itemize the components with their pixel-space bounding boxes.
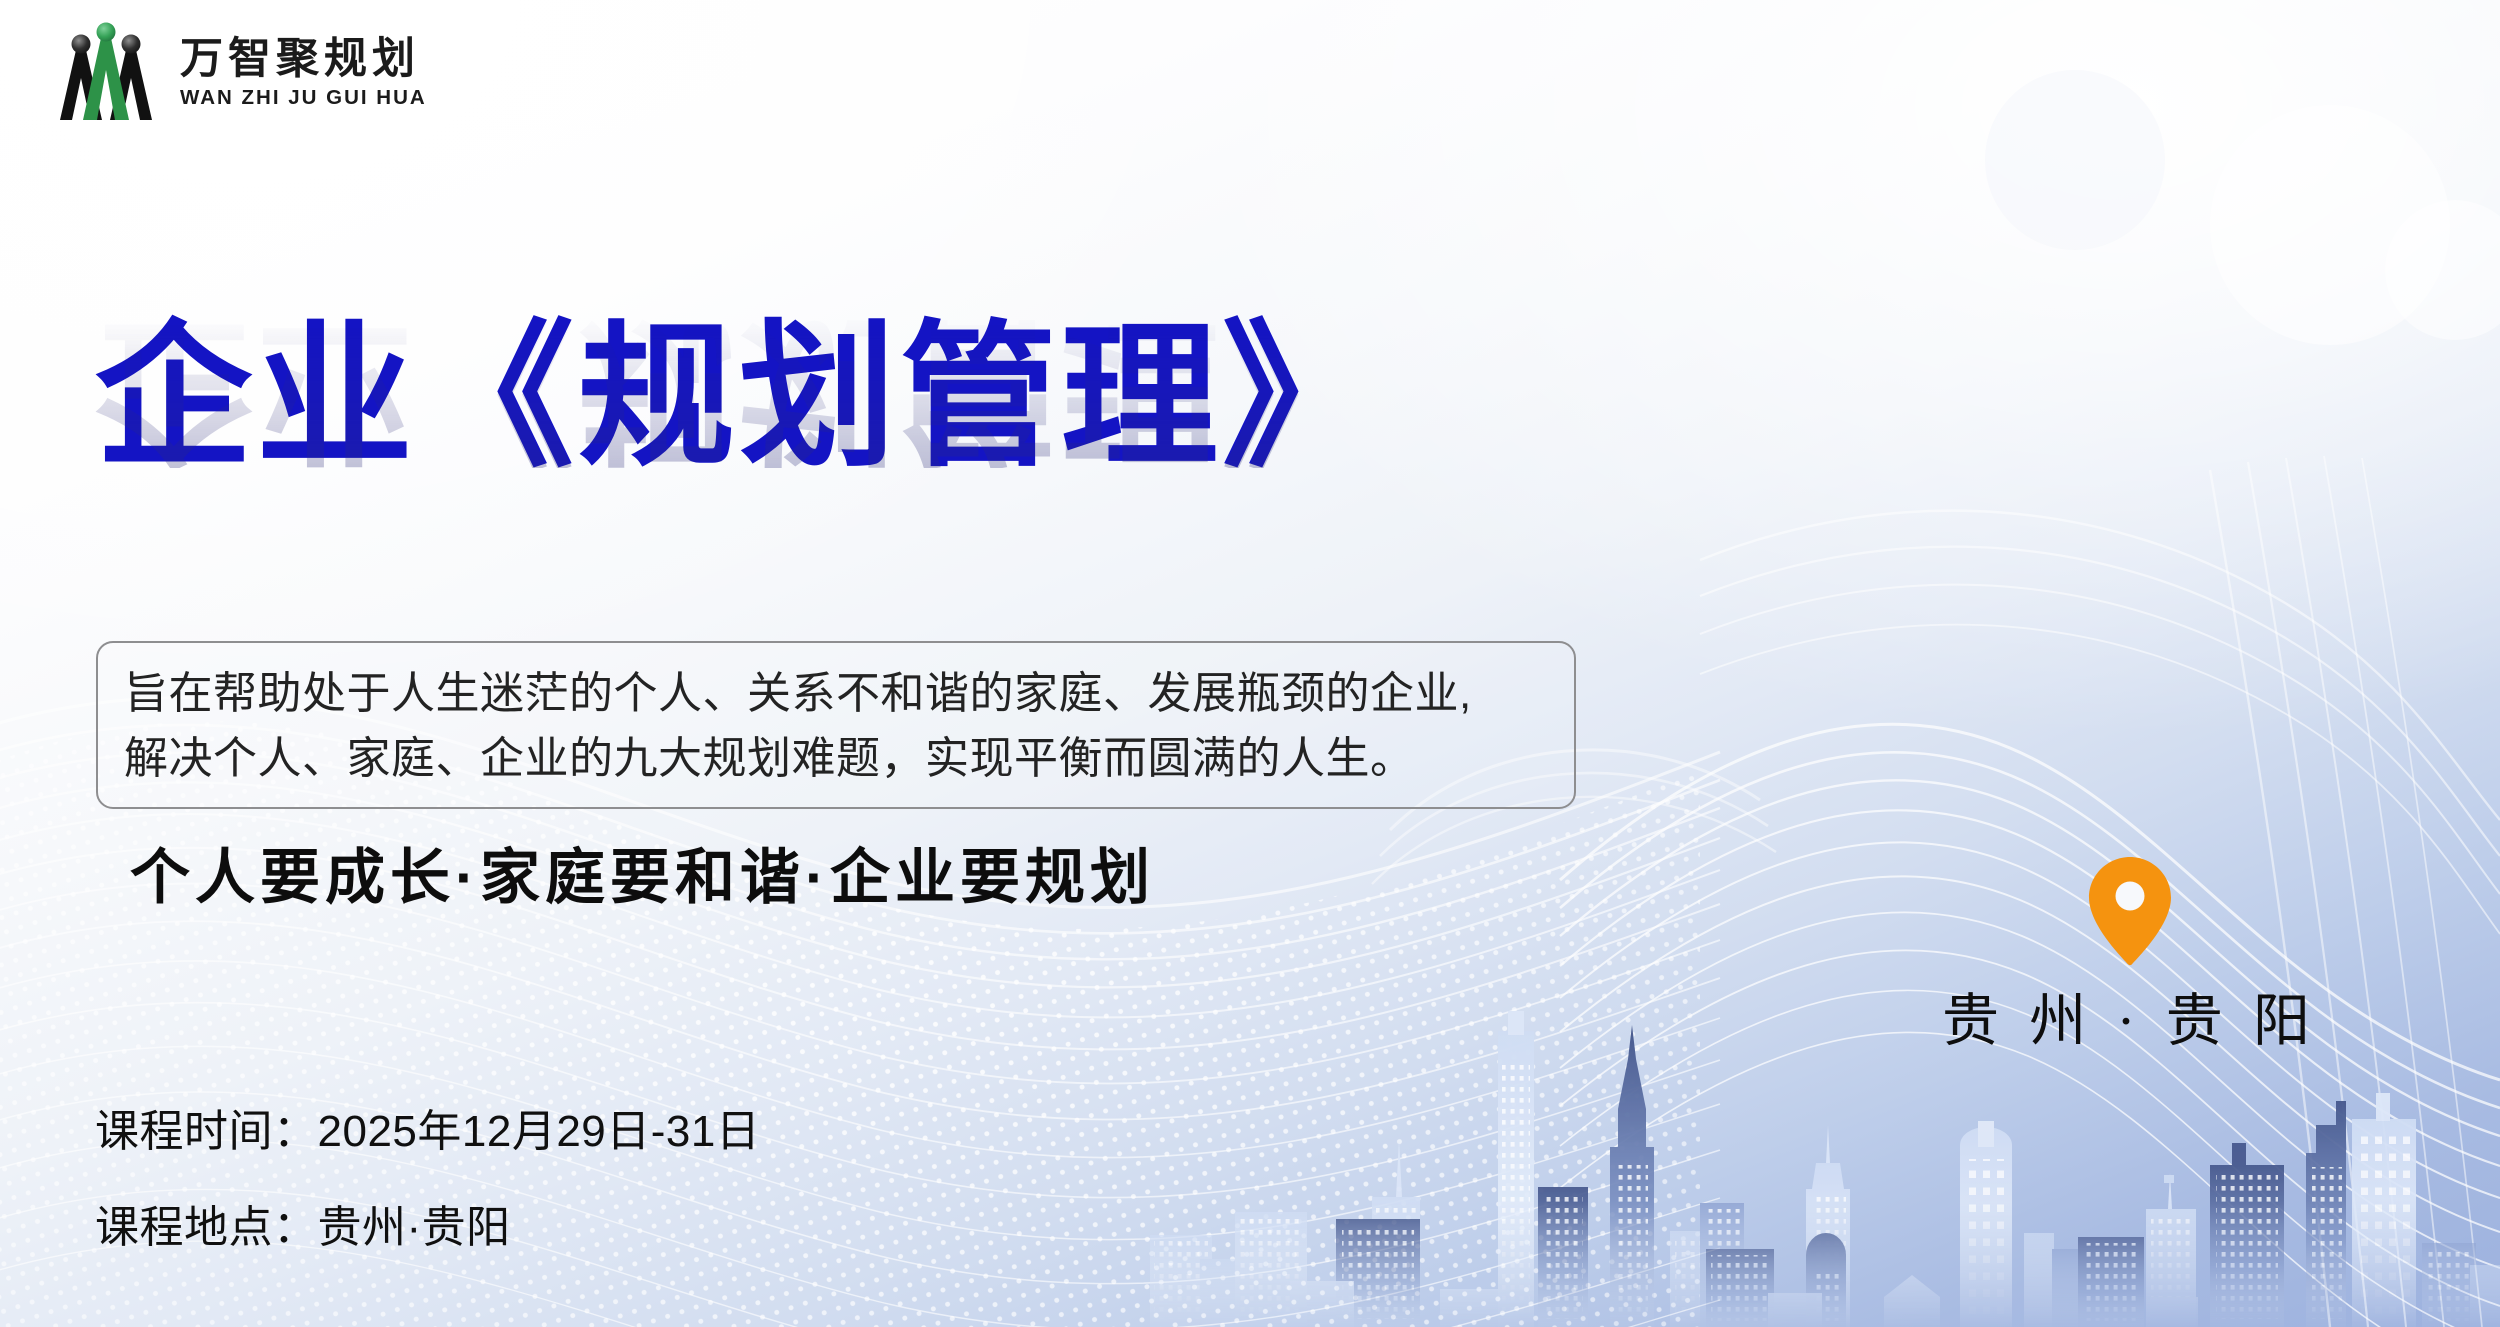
course-info: 课程时间：2025年12月29日-31日 课程地点：贵州·贵阳 [95, 1110, 760, 1250]
brand-logo[interactable]: 万智聚规划 WAN ZHI JU GUI HUA [50, 20, 427, 125]
location-badge: 贵 州 · 贵 阳 [1940, 855, 2320, 1050]
slogan-text: 个人要成长·家庭要和谐·企业要规划 [130, 845, 1155, 911]
hero-title-block: 企业《规划管理》 企业《规划管理》 [95, 318, 1383, 628]
three-people-logo-icon [50, 20, 162, 125]
poster-canvas: 万智聚规划 WAN ZHI JU GUI HUA 企业《规划管理》 企业《规划管… [0, 0, 2500, 1327]
course-place: 课程地点：贵州·贵阳 [95, 1206, 760, 1250]
brand-name-en: WAN ZHI JU GUI HUA [180, 88, 427, 109]
location-label: 贵 州 · 贵 阳 [1942, 993, 2318, 1050]
map-pin-icon [2087, 855, 2173, 967]
description-box: 旨在帮助处于人生迷茫的个人、关系不和谐的家庭、发展瓶颈的企业, 解决个人、家庭、… [96, 641, 1576, 809]
page-title-reflection: 企业《规划管理》 [95, 308, 1383, 468]
description-line-1: 旨在帮助处于人生迷茫的个人、关系不和谐的家庭、发展瓶颈的企业, [124, 662, 1548, 727]
brand-name-cn: 万智聚规划 [180, 37, 427, 83]
course-time: 课程时间：2025年12月29日-31日 [95, 1110, 760, 1154]
description-line-2: 解决个人、家庭、企业的九大规划难题，实现平衡而圆满的人生。 [124, 727, 1548, 792]
